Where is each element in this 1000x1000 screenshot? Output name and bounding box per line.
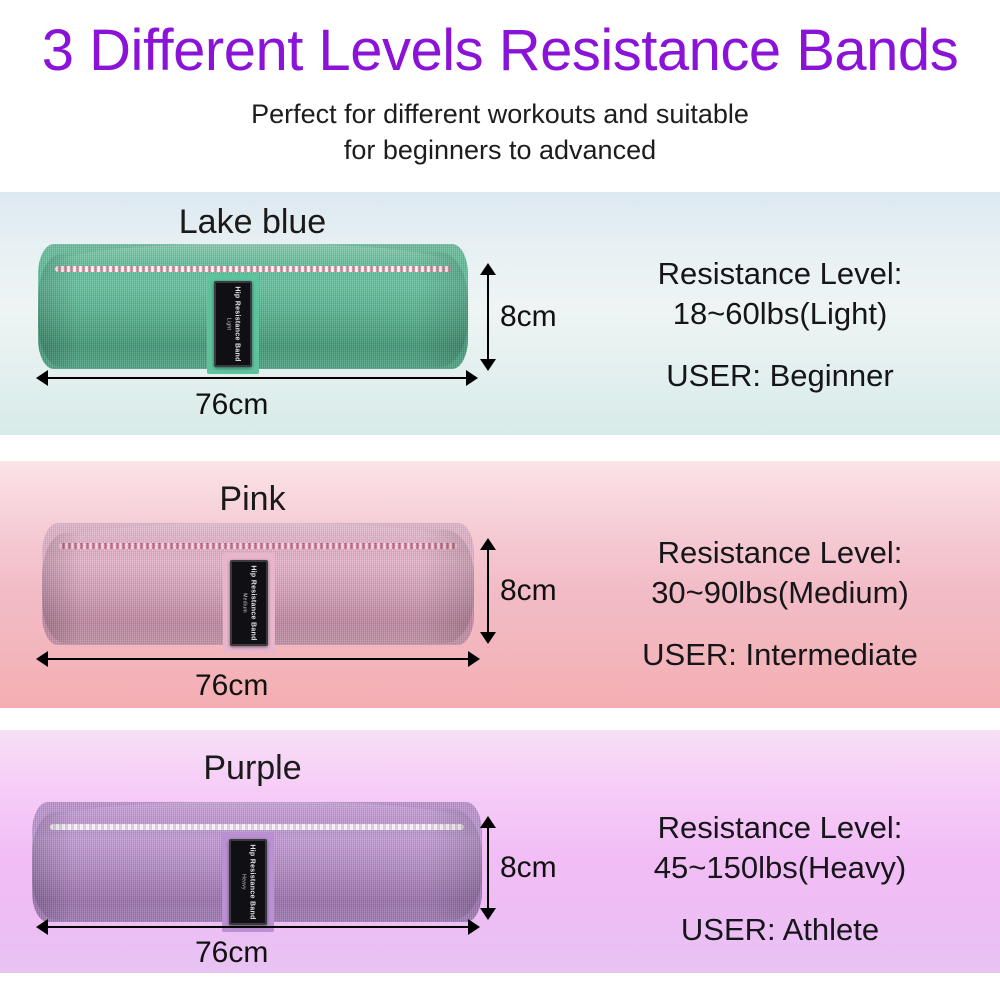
spec-block: Resistance Level: 45~150lbs(Heavy) USER:…	[570, 808, 990, 950]
resistance-level-label: Resistance Level:	[570, 808, 990, 848]
product-panel-pink: Pink Hip Resistance Band Medium	[0, 461, 1000, 708]
tag-brand-text: Hip Resistance Band	[249, 844, 256, 919]
band-care-tag-text: Hip Resistance Band Light	[224, 286, 242, 361]
user-level-value: USER: Beginner	[570, 356, 990, 396]
color-name-label: Lake blue	[0, 202, 505, 242]
band-graphic: Hip Resistance Band Medium	[42, 523, 474, 645]
user-level-value: USER: Athlete	[570, 910, 990, 950]
tag-level-text: Heavy	[239, 844, 248, 919]
band-illustration-lake-blue: Hip Resistance Band Light	[38, 244, 468, 369]
band-illustration-purple: Hip Resistance Band Heavy	[32, 802, 482, 922]
resistance-level-value: 30~90lbs(Medium)	[570, 573, 990, 613]
band-illustration-pink: Hip Resistance Band Medium	[42, 523, 474, 645]
product-panel-purple: Purple Hip Resistance Band Heavy	[0, 730, 1000, 973]
band-care-tag: Hip Resistance Band Medium	[230, 560, 268, 646]
width-dimension-label: 76cm	[195, 388, 268, 422]
tag-level-text: Light	[224, 286, 233, 361]
tag-brand-text: Hip Resistance Band	[250, 565, 257, 640]
band-graphic: Hip Resistance Band Light	[38, 244, 468, 369]
height-dimension-label: 8cm	[500, 300, 557, 334]
band-care-tag: Hip Resistance Band Light	[214, 281, 252, 367]
height-dimension-label: 8cm	[500, 574, 557, 608]
product-panel-lake-blue: Lake blue Hip Resistance Band Light	[0, 192, 1000, 435]
color-name-label: Pink	[0, 479, 505, 519]
spec-block: Resistance Level: 18~60lbs(Light) USER: …	[570, 254, 990, 396]
user-level-value: USER: Intermediate	[570, 635, 990, 675]
band-care-tag-text: Hip Resistance Band Medium	[240, 565, 258, 640]
tag-level-text: Medium	[240, 565, 249, 640]
width-dimension-arrow	[47, 377, 467, 379]
header: 3 Different Levels Resistance Bands Perf…	[0, 0, 1000, 190]
height-dimension-arrow	[487, 827, 489, 909]
width-dimension-label: 76cm	[195, 936, 268, 970]
subtitle-line-1: Perfect for different workouts and suita…	[0, 98, 1000, 130]
page-title: 3 Different Levels Resistance Bands	[0, 20, 1000, 82]
subtitle-line-2: for beginners to advanced	[0, 134, 1000, 166]
band-graphic: Hip Resistance Band Heavy	[32, 802, 482, 922]
resistance-level-value: 18~60lbs(Light)	[570, 294, 990, 334]
spec-block: Resistance Level: 30~90lbs(Medium) USER:…	[570, 533, 990, 675]
tag-brand-text: Hip Resistance Band	[234, 286, 241, 361]
resistance-level-label: Resistance Level:	[570, 254, 990, 294]
band-care-tag-text: Hip Resistance Band Heavy	[239, 844, 257, 919]
width-dimension-arrow	[47, 658, 469, 660]
width-dimension-label: 76cm	[195, 669, 268, 703]
resistance-level-label: Resistance Level:	[570, 533, 990, 573]
height-dimension-arrow	[487, 549, 489, 633]
resistance-level-value: 45~150lbs(Heavy)	[570, 848, 990, 888]
band-care-tag: Hip Resistance Band Heavy	[229, 839, 267, 925]
height-dimension-arrow	[487, 274, 489, 360]
infographic-page: 3 Different Levels Resistance Bands Perf…	[0, 0, 1000, 1000]
width-dimension-arrow	[47, 926, 469, 928]
color-name-label: Purple	[0, 748, 505, 788]
height-dimension-label: 8cm	[500, 851, 557, 885]
